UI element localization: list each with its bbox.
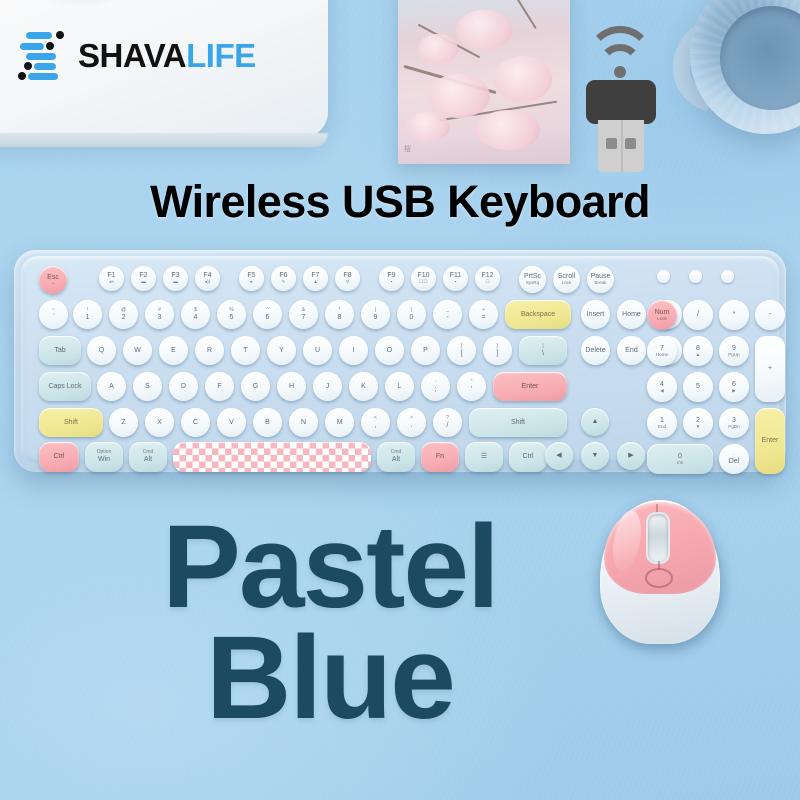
key-legend: Alt <box>392 456 400 463</box>
key-qwerty-0[interactable]: Tab <box>39 336 81 365</box>
key-legend: F <box>217 383 221 390</box>
key-legend-sub: ◂)) <box>205 280 210 285</box>
key-legend-sub: PgUp <box>728 353 740 358</box>
key-qwerty-2[interactable]: W <box>123 336 152 365</box>
photo-caption: 桜 <box>404 144 412 154</box>
key-num-11[interactable]: _- <box>433 300 462 329</box>
key-asdf-8[interactable]: K <box>349 372 378 401</box>
key-zxcv-10[interactable]: ?/ <box>433 408 462 437</box>
key-legend: 1 <box>86 314 90 321</box>
key-legend-sub: ◂- <box>250 280 254 285</box>
key-legend-sub: ▼ <box>696 425 701 430</box>
key-legend-top: $ <box>194 308 197 313</box>
key-legend: Insert <box>587 311 605 318</box>
key-legend: G <box>253 383 258 390</box>
key-zxcv-2[interactable]: X <box>145 408 174 437</box>
key-numpad-11[interactable]: 1End <box>647 408 677 438</box>
key-legend-top: # <box>158 308 161 313</box>
key-legend: Win <box>98 456 110 463</box>
key-num-10[interactable]: )0 <box>397 300 426 329</box>
key-legend-sub: PgDn <box>728 425 740 430</box>
key-legend: V <box>229 419 234 426</box>
key-legend: - <box>446 314 448 321</box>
mouse-dpi-button[interactable] <box>645 568 673 588</box>
key-legend-top: . <box>733 452 734 457</box>
key-qwerty-13[interactable]: |\ <box>519 336 567 365</box>
key-legend: 3 <box>732 417 736 424</box>
key-bottom-1[interactable]: OptionWin <box>85 442 123 472</box>
key-legend-top: Cmd <box>391 450 402 455</box>
key-asdf-12[interactable]: Enter <box>493 372 567 401</box>
key-num-5[interactable]: %5 <box>217 300 246 329</box>
key-legend-top: ! <box>87 308 88 313</box>
key-num-15[interactable]: Home <box>617 300 646 329</box>
key-arrows-0[interactable]: ▲ <box>581 408 609 436</box>
key-legend-top: % <box>229 308 233 313</box>
key-legend: D <box>181 383 186 390</box>
key-legend: Delete <box>585 347 605 354</box>
key-legend: ◀ <box>556 452 561 459</box>
key-zxcv-6[interactable]: N <box>289 408 318 437</box>
key-legend: 6 <box>266 314 270 321</box>
key-legend-top: * <box>339 308 341 313</box>
key-legend: 7 <box>302 314 306 321</box>
key-legend-top: _ <box>446 308 449 313</box>
key-legend: Home <box>622 311 641 318</box>
key-zxcv-7[interactable]: M <box>325 408 354 437</box>
key-legend: Q <box>99 347 104 354</box>
key-legend: End <box>625 347 637 354</box>
key-fn-15[interactable]: PauseBreak <box>587 266 614 293</box>
key-bottom-7[interactable]: Ctrl <box>509 442 547 472</box>
key-numpad-1[interactable]: / <box>683 300 713 330</box>
key-legend-sub: ◂× <box>109 280 114 285</box>
key-zxcv-1[interactable]: Z <box>109 408 138 437</box>
key-numpad-6[interactable]: 9PgUp <box>719 336 749 366</box>
key-legend-sub: ✎ <box>282 280 286 285</box>
key-numpad-3[interactable]: - <box>755 300 785 330</box>
usb-wifi-dongle-icon <box>560 24 680 174</box>
key-fn-13[interactable]: PrtScSysRq <box>519 266 546 293</box>
key-zxcv-0[interactable]: Shift <box>39 408 103 437</box>
key-asdf-0[interactable]: Caps Lock <box>39 372 91 401</box>
key-legend: Esc <box>47 274 59 281</box>
mouse-scroll-wheel[interactable] <box>646 512 670 564</box>
key-legend: Z <box>121 419 125 426</box>
key-legend-sub: ☐☐ <box>419 280 427 285</box>
key-bottom-4[interactable]: CmdAlt <box>377 442 415 472</box>
key-qwerty-7[interactable]: U <box>303 336 332 365</box>
key-qwerty-6[interactable]: Y <box>267 336 296 365</box>
key-legend-sub: SysRq <box>526 281 540 286</box>
logo-text-secondary: LIFE <box>186 37 256 74</box>
key-numpad-8[interactable]: 4◀ <box>647 372 677 402</box>
key-num-14[interactable]: Insert <box>581 300 610 329</box>
key-num-0[interactable]: ~` <box>39 300 68 329</box>
key-legend-top: { <box>461 344 463 349</box>
key-legend-top: ? <box>446 416 449 421</box>
key-legend: Ctrl <box>523 453 534 460</box>
key-num-13[interactable]: Backspace <box>505 300 571 329</box>
key-fn-2[interactable]: F2▬ <box>131 266 156 291</box>
key-legend: . <box>411 422 413 429</box>
key-legend-top: < <box>374 416 377 421</box>
key-asdf-5[interactable]: G <box>241 372 270 401</box>
key-legend: I <box>353 347 355 354</box>
key-legend: 0 <box>410 314 414 321</box>
key-legend: Caps Lock <box>48 383 81 390</box>
key-zxcv-3[interactable]: C <box>181 408 210 437</box>
key-asdf-7[interactable]: J <box>313 372 342 401</box>
key-qwerty-10[interactable]: P <box>411 336 440 365</box>
key-legend: / <box>447 422 449 429</box>
key-legend: M <box>337 419 343 426</box>
brand-logo: SHAVALIFE <box>18 30 256 80</box>
key-legend-sub: ▲ <box>696 353 701 358</box>
key-numpad-13[interactable]: 3PgDn <box>719 408 749 438</box>
key-legend: Tab <box>54 347 65 354</box>
key-num-12[interactable]: += <box>469 300 498 329</box>
speed-lines-icon <box>18 30 66 80</box>
key-legend: ` <box>52 314 54 321</box>
key-legend: C <box>193 419 198 426</box>
key-asdf-10[interactable]: :; <box>421 372 450 401</box>
key-legend: = <box>481 314 485 321</box>
key-legend: Shift <box>511 419 525 426</box>
key-legend: Fn <box>436 453 444 460</box>
key-legend-sub: End <box>658 425 666 430</box>
key-legend: 2 <box>122 314 126 321</box>
key-legend: N <box>301 419 306 426</box>
key-legend: ▼ <box>592 452 599 459</box>
key-fn-7[interactable]: F7▲ <box>303 266 328 291</box>
key-legend-sub: ☐ <box>485 280 489 285</box>
key-arrows-3[interactable]: ▶ <box>617 442 645 470</box>
product-banner: 桜 SHAVALIFE Wireless <box>0 0 800 800</box>
key-legend-sub: ▬ <box>173 280 178 285</box>
key-legend: \ <box>542 350 544 357</box>
cherry-blossom-photo: 桜 <box>398 0 570 164</box>
key-fn-9[interactable]: F9▪ <box>379 266 404 291</box>
key-numpad-16[interactable]: .Del <box>719 444 749 474</box>
key-legend-sub: ~ <box>52 282 55 287</box>
logo-wordmark: SHAVALIFE <box>78 39 256 72</box>
key-qwerty-9[interactable]: O <box>375 336 404 365</box>
key-legend: ▶ <box>628 452 633 459</box>
num-lock-led <box>657 270 670 283</box>
key-legend: * <box>733 311 736 318</box>
key-legend: S <box>145 383 150 390</box>
key-numpad-12[interactable]: 2▼ <box>683 408 713 438</box>
key-legend: 5 <box>696 383 700 390</box>
key-asdf-4[interactable]: F <box>205 372 234 401</box>
caps-lock-led <box>689 270 702 283</box>
key-fn-4[interactable]: F4◂)) <box>195 266 220 291</box>
key-legend: E <box>171 347 176 354</box>
laptop-highlight <box>26 0 136 8</box>
key-legend-sub: Lock <box>562 281 572 286</box>
key-bottom-2[interactable]: CmdAlt <box>129 442 167 472</box>
key-legend: A <box>109 383 114 390</box>
key-legend-sub: Home <box>656 353 668 358</box>
key-legend: Ctrl <box>54 453 65 460</box>
key-legend: ' <box>471 386 472 393</box>
key-qwerty-8[interactable]: I <box>339 336 368 365</box>
key-legend: + <box>768 365 772 372</box>
key-numpad-4[interactable]: 7Home <box>647 336 677 366</box>
key-legend: 3 <box>158 314 162 321</box>
usb-body <box>586 80 656 124</box>
key-legend-sub: ▶ <box>732 389 736 394</box>
key-legend-top: + <box>482 308 485 313</box>
key-fn-12[interactable]: F12☐ <box>475 266 500 291</box>
key-legend: / <box>697 311 699 318</box>
key-qwerty-4[interactable]: R <box>195 336 224 365</box>
key-asdf-11[interactable]: "' <box>457 372 486 401</box>
key-legend: 8 <box>696 345 700 352</box>
key-zxcv-9[interactable]: >. <box>397 408 426 437</box>
key-legend-top: : <box>435 380 436 385</box>
key-legend-top: Cmd <box>143 450 154 455</box>
wireless-mouse[interactable] <box>598 494 722 646</box>
key-legend: 9 <box>732 345 736 352</box>
key-legend-sub: Break <box>594 281 606 286</box>
key-arrows-2[interactable]: ▼ <box>581 442 609 470</box>
wordmark-line-1: Pastel <box>120 512 540 623</box>
key-fn-10[interactable]: F10☐☐ <box>411 266 436 291</box>
key-legend: 6 <box>732 381 736 388</box>
key-num-8[interactable]: *8 <box>325 300 354 329</box>
key-numpad-5[interactable]: 8▲ <box>683 336 713 366</box>
key-legend-sub: ▲ <box>313 280 318 285</box>
key-num-6[interactable]: ^6 <box>253 300 282 329</box>
wifi-signal-icon <box>592 24 648 74</box>
key-fn-14[interactable]: ScrollLock <box>553 266 580 293</box>
scroll-lock-led <box>721 270 734 283</box>
key-numpad-15[interactable]: 0Ins <box>647 444 713 474</box>
key-bottom-5[interactable]: Fn <box>421 442 459 472</box>
key-legend-sub: ◀ <box>660 389 664 394</box>
key-legend: J <box>326 383 330 390</box>
key-legend: 5 <box>230 314 234 321</box>
key-num-7[interactable]: &7 <box>289 300 318 329</box>
key-legend: 4 <box>194 314 198 321</box>
key-num-1[interactable]: !1 <box>73 300 102 329</box>
key-legend: Num <box>655 309 670 316</box>
key-qwerty-3[interactable]: E <box>159 336 188 365</box>
key-num-2[interactable]: @2 <box>109 300 138 329</box>
key-legend: [ <box>461 350 463 357</box>
key-legend-sub: ▪ <box>455 280 457 285</box>
key-num-9[interactable]: (9 <box>361 300 390 329</box>
key-legend-top: ^ <box>266 308 268 313</box>
key-legend: ; <box>435 386 437 393</box>
key-legend-sub: ▪ <box>391 280 393 285</box>
key-legend: R <box>207 347 212 354</box>
key-asdf-1[interactable]: A <box>97 372 126 401</box>
key-qwerty-14[interactable]: Delete <box>581 336 610 365</box>
key-qwerty-5[interactable]: T <box>231 336 260 365</box>
key-fn-6[interactable]: F6✎ <box>271 266 296 291</box>
key-numpad-7[interactable]: + <box>755 336 785 402</box>
key-legend-sub: ▬ <box>141 280 146 285</box>
key-legend: 7 <box>660 345 664 352</box>
key-legend-sub: ⚲ <box>346 280 349 285</box>
key-legend: W <box>134 347 141 354</box>
key-qwerty-11[interactable]: {[ <box>447 336 476 365</box>
key-legend: ▲ <box>592 418 599 425</box>
key-qwerty-12[interactable]: }] <box>483 336 512 365</box>
wordmark-line-2: Blue <box>120 623 540 734</box>
key-legend: ☰ <box>481 453 487 460</box>
key-legend: X <box>157 419 162 426</box>
key-numpad-0[interactable]: NumLock <box>647 300 677 330</box>
key-fn-8[interactable]: F8⚲ <box>335 266 360 291</box>
key-numpad-2[interactable]: * <box>719 300 749 330</box>
key-bottom-0[interactable]: Ctrl <box>39 442 79 472</box>
usb-connector <box>598 120 644 172</box>
page-title: Wireless USB Keyboard <box>0 176 800 228</box>
key-legend-top: ( <box>375 308 377 313</box>
key-fn-3[interactable]: F3▬ <box>163 266 188 291</box>
key-numpad-9[interactable]: 5 <box>683 372 713 402</box>
key-qwerty-15[interactable]: End <box>617 336 646 365</box>
key-legend: P <box>423 347 428 354</box>
key-arrows-1[interactable]: ◀ <box>545 442 573 470</box>
key-legend: K <box>361 383 366 390</box>
key-legend-sub: Ins <box>677 461 683 466</box>
key-asdf-9[interactable]: L <box>385 372 414 401</box>
key-legend: 4 <box>660 381 664 388</box>
key-num-4[interactable]: $4 <box>181 300 210 329</box>
key-legend: , <box>375 422 377 429</box>
key-legend: L <box>398 383 402 390</box>
key-legend: Shift <box>64 419 78 426</box>
key-legend: 1 <box>660 417 664 424</box>
key-legend: O <box>387 347 392 354</box>
key-asdf-2[interactable]: S <box>133 372 162 401</box>
key-qwerty-1[interactable]: Q <box>87 336 116 365</box>
key-fn-1[interactable]: F1◂× <box>99 266 124 291</box>
key-legend: B <box>265 419 270 426</box>
key-asdf-3[interactable]: D <box>169 372 198 401</box>
key-zxcv-11[interactable]: Shift <box>469 408 567 437</box>
key-legend: H <box>289 383 294 390</box>
key-legend: Alt <box>144 456 152 463</box>
key-legend: - <box>769 311 771 318</box>
key-legend: 0 <box>678 453 682 460</box>
keyboard-plate: Esc~F1◂×F2▬F3▬F4◂))F5◂-F6✎F7▲F8⚲F9▪F10☐☐… <box>21 256 779 464</box>
key-fn-5[interactable]: F5◂- <box>239 266 264 291</box>
key-legend: U <box>315 347 320 354</box>
key-bottom-6[interactable]: ☰ <box>465 442 503 472</box>
key-legend: Y <box>279 347 284 354</box>
key-num-3[interactable]: #3 <box>145 300 174 329</box>
key-legend-top: " <box>471 380 473 385</box>
key-bottom-3[interactable] <box>173 442 371 472</box>
key-legend: Enter <box>522 383 539 390</box>
key-legend-sub: Lock <box>657 317 667 322</box>
key-zxcv-8[interactable]: <, <box>361 408 390 437</box>
key-legend: ] <box>497 350 499 357</box>
key-legend-top: & <box>302 308 305 313</box>
keyboard[interactable]: Esc~F1◂×F2▬F3▬F4◂))F5◂-F6✎F7▲F8⚲F9▪F10☐☐… <box>14 250 786 472</box>
key-legend: 9 <box>374 314 378 321</box>
key-fn-11[interactable]: F11▪ <box>443 266 468 291</box>
key-legend-top: ) <box>411 308 413 313</box>
key-asdf-6[interactable]: H <box>277 372 306 401</box>
key-numpad-14[interactable]: Enter <box>755 408 785 474</box>
key-legend-top: } <box>497 344 499 349</box>
logo-text-primary: SHAVA <box>78 37 186 74</box>
key-legend: Del <box>729 458 740 465</box>
key-legend: 2 <box>696 417 700 424</box>
key-legend-top: | <box>542 344 543 349</box>
key-legend-top: @ <box>121 308 126 313</box>
key-zxcv-4[interactable]: V <box>217 408 246 437</box>
key-legend-top: ~ <box>52 308 55 313</box>
key-legend: Backspace <box>521 311 555 318</box>
key-legend-top: > <box>410 416 413 421</box>
key-legend: T <box>243 347 247 354</box>
key-legend-top: Option <box>97 450 112 455</box>
key-numpad-10[interactable]: 6▶ <box>719 372 749 402</box>
key-legend: 8 <box>338 314 342 321</box>
color-wordmark: Pastel Blue <box>120 512 540 734</box>
key-fn-0[interactable]: Esc~ <box>39 266 67 294</box>
key-legend: Enter <box>762 437 779 444</box>
key-zxcv-5[interactable]: B <box>253 408 282 437</box>
